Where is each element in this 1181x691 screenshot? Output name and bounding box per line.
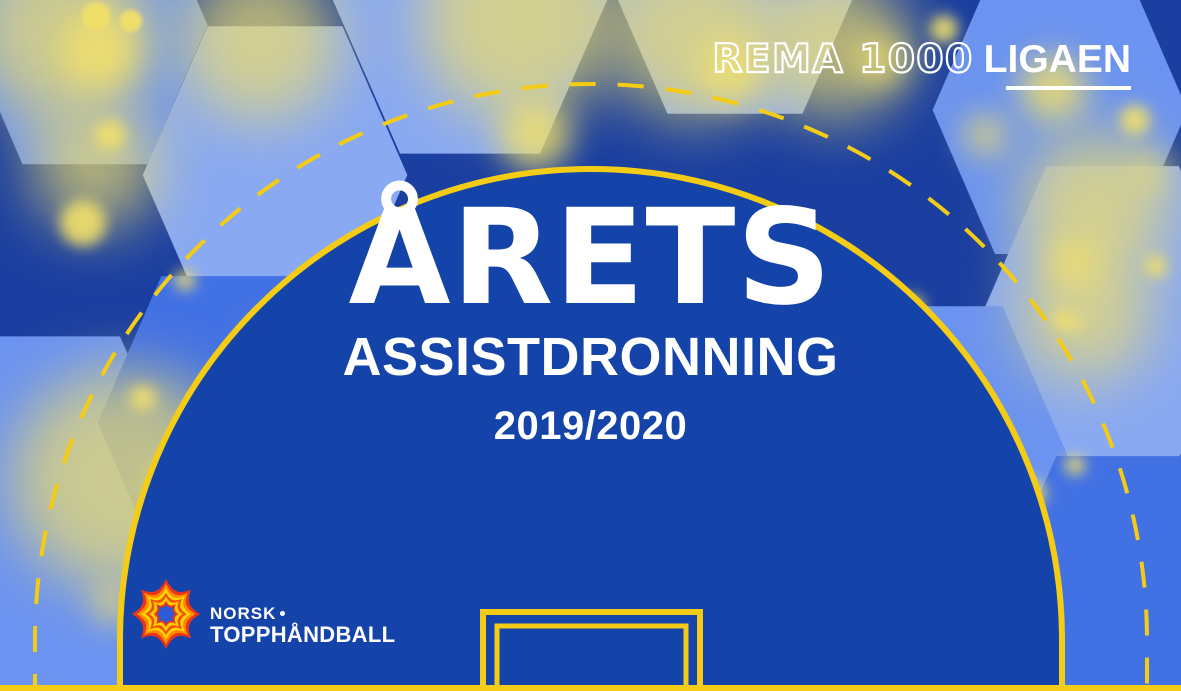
federation-line-1: NORSK xyxy=(210,605,395,622)
federation-wordmark: NORSK TOPPHÅNDBALL xyxy=(210,605,395,646)
federation-dot-icon xyxy=(280,611,285,616)
poster-canvas: REMA 1000 LIGAEN ÅRETS ASSISTDRONNING 20… xyxy=(0,0,1181,691)
rema-1000-ligaen-logo: REMA 1000 LIGAEN xyxy=(712,40,1131,90)
flower-star-icon xyxy=(128,576,204,652)
headline-award: ASSISTDRONNING xyxy=(0,330,1181,384)
ligaen-underline xyxy=(1006,86,1131,90)
federation-line-2: TOPPHÅNDBALL xyxy=(210,623,395,646)
norsk-topphandball-logo: NORSK TOPPHÅNDBALL xyxy=(128,576,395,652)
ligaen-wordmark: LIGAEN xyxy=(984,40,1131,79)
flower-star-icon-svg xyxy=(128,576,204,652)
federation-norsk-text: NORSK xyxy=(210,605,276,622)
league-logo-row: REMA 1000 LIGAEN xyxy=(712,40,1131,79)
rema-1000-wordmark: REMA 1000 xyxy=(712,40,973,79)
headline-arets: ÅRETS xyxy=(0,196,1181,320)
headline-season: 2019/2020 xyxy=(0,406,1181,446)
award-headline-block: ÅRETS ASSISTDRONNING 2019/2020 xyxy=(0,196,1181,446)
